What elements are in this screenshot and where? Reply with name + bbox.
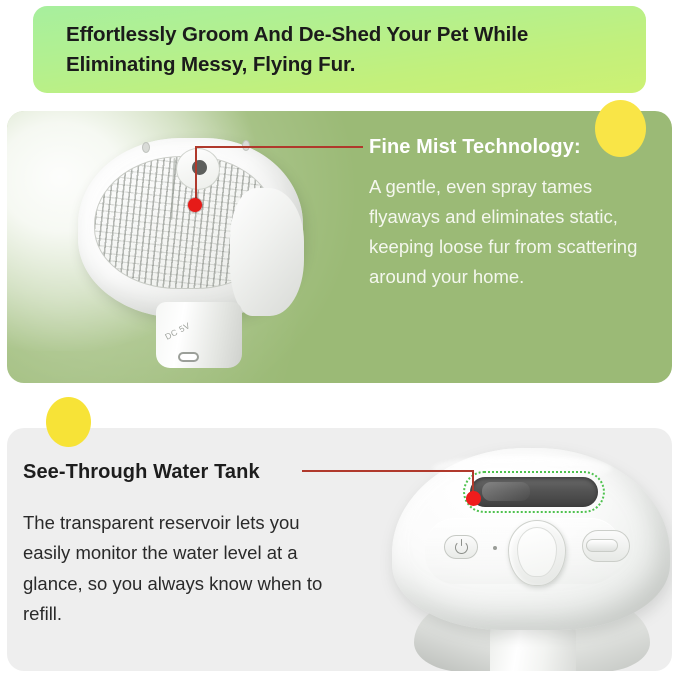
accent-circle-top-right (595, 100, 646, 157)
callout-line-vertical-1 (195, 147, 197, 205)
brush-side-wing (230, 188, 304, 316)
callout-marker-dot-1 (188, 198, 202, 212)
power-button[interactable] (444, 535, 478, 559)
callout-marker-dot-2 (466, 491, 481, 506)
page-title: Effortlessly Groom And De-Shed Your Pet … (66, 20, 596, 80)
panel-2-body-text: The transparent reservoir lets you easil… (23, 508, 343, 629)
callout-line-horizontal-2 (302, 470, 474, 472)
highlight-dashed-outline (463, 471, 605, 513)
usb-c-port-icon (178, 352, 199, 362)
mode-button-inner (517, 527, 557, 577)
vent-hole-left-icon (142, 142, 150, 153)
power-icon (455, 541, 468, 554)
panel-1-heading: Fine Mist Technology: (369, 136, 581, 159)
slide-switch-knob[interactable] (586, 539, 618, 552)
callout-line-horizontal-1 (195, 146, 363, 148)
product-image-handle-top (370, 440, 672, 671)
accent-circle-mid-left (46, 397, 91, 447)
slide-switch[interactable] (582, 530, 630, 562)
led-indicator-icon (493, 546, 497, 550)
infographic-canvas: Effortlessly Groom And De-Shed Your Pet … (0, 0, 679, 678)
panel-1-body-text: A gentle, even spray tames flyaways and … (369, 172, 659, 292)
panel-2-heading: See-Through Water Tank (23, 461, 260, 484)
